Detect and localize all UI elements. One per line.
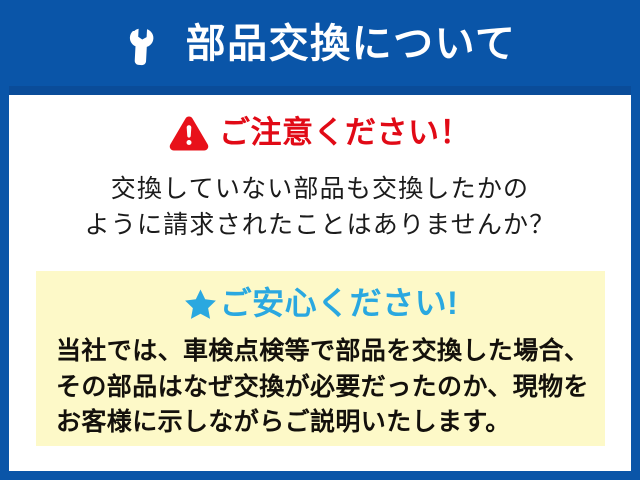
relief-heading: ご安心ください! xyxy=(220,287,459,319)
star-icon xyxy=(183,285,218,320)
wrench-icon xyxy=(124,22,168,66)
relief-body-line: その部品はなぜ交換が必要だったのか、現物を xyxy=(56,370,605,406)
relief-panel: ご安心ください! 当社では、車検点検等で部品を交換した場合、 その部品はなぜ交換… xyxy=(36,271,605,446)
page-title: 部品交換について xyxy=(186,24,517,64)
relief-body-line: 当社では、車検点検等で部品を交換した場合、 xyxy=(56,334,605,370)
relief-heading-row: ご安心ください! xyxy=(36,271,605,320)
caution-heading: ご注意ください！ xyxy=(219,117,471,148)
caution-body-line: ように請求されたことはありませんか？ xyxy=(9,208,631,244)
banner-header: 部品交換について xyxy=(0,0,640,86)
parts-replacement-banner: 部品交換について ご注意ください！ 交換していない部品も交換したかの ように請求… xyxy=(0,0,640,480)
caution-body: 交換していない部品も交換したかの ように請求されたことはありませんか？ xyxy=(9,172,631,243)
caution-heading-row: ご注意ください！ xyxy=(9,112,631,152)
relief-body: 当社では、車検点検等で部品を交換した場合、 その部品はなぜ交換が必要だったのか、… xyxy=(36,334,605,441)
warning-triangle-icon xyxy=(169,112,209,152)
caution-body-line: 交換していない部品も交換したかの xyxy=(9,172,631,208)
header-content: 部品交換について xyxy=(124,22,517,66)
content-area: ご注意ください！ 交換していない部品も交換したかの ように請求されたことはありま… xyxy=(9,86,631,471)
relief-body-line: お客様に示しながらご説明いたします。 xyxy=(56,405,605,441)
